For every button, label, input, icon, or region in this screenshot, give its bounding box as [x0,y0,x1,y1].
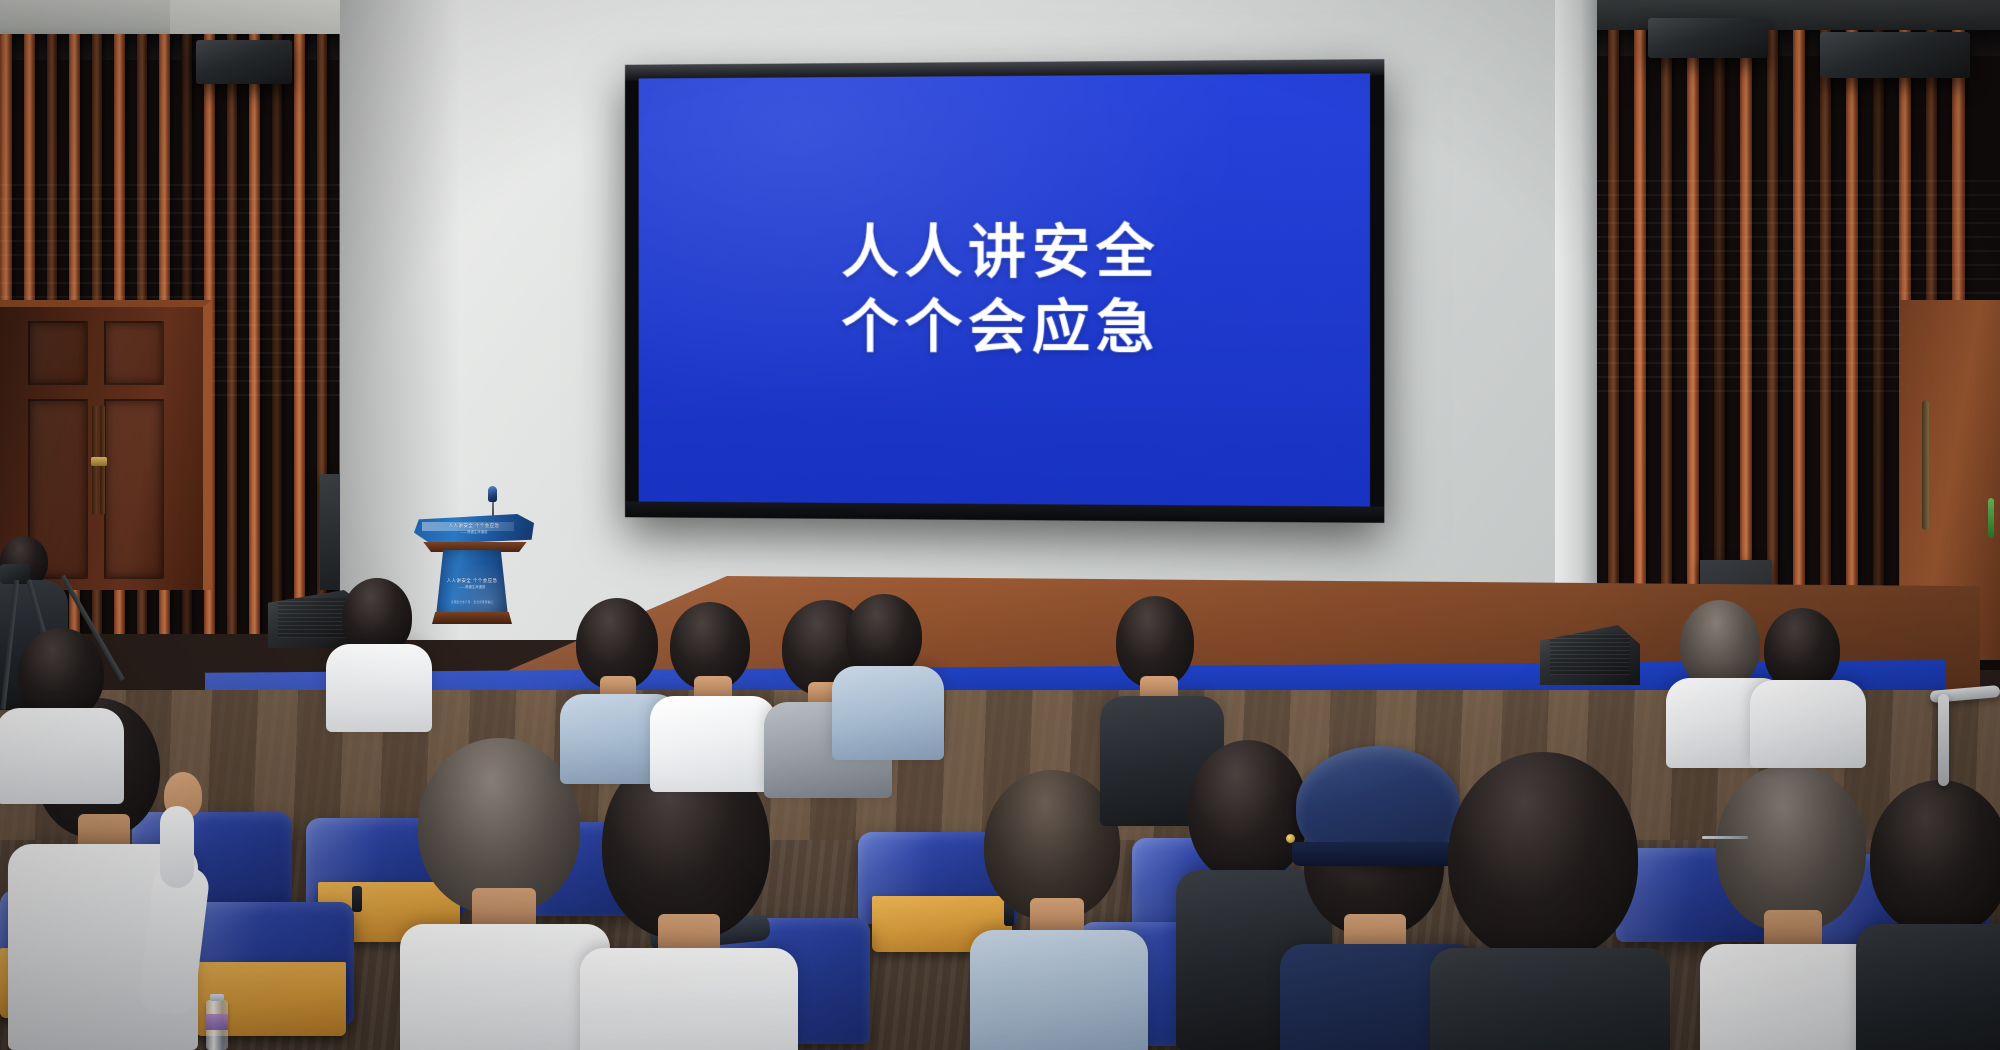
wall-slat [1608,30,1619,670]
door-panel [104,399,164,579]
stair-railing-post [1938,694,1949,786]
exit-led-indicator [1988,498,1994,538]
podium-front-panel: 人人讲安全 个个会应急 ——畅通生命通道 全国安全生产月 · 安全宣传咨询日 [436,550,508,616]
wall-slat [1634,30,1646,670]
person-torso [970,930,1148,1050]
person-head [1188,740,1308,882]
person-torso [326,644,432,732]
person-head [1716,764,1866,932]
ceiling-speaker [1820,32,1970,78]
wall-slat [227,34,237,634]
door-panel [104,321,164,385]
back-wall-right-return [1555,0,1597,640]
wall-slat [272,34,282,634]
ceiling-speaker [1648,18,1768,58]
person-head [18,628,104,720]
wall-slat [249,34,260,634]
ceiling-speaker [196,40,292,84]
person-torso [580,948,798,1050]
bottle-label [206,1014,228,1030]
person-torso [400,924,610,1050]
microphone-icon [488,486,497,502]
podium-body-title: 人人讲安全 个个会应急 [436,578,508,584]
podium-banner-subtitle: ——畅通生命通道 [414,529,534,534]
wall-slat [1793,30,1805,670]
wall-slat [1687,30,1699,670]
podium-base [432,612,512,624]
cap-brim [1292,842,1464,866]
person-head [1116,596,1194,688]
person-torso [0,708,124,804]
door-lock-plate[interactable] [91,457,107,466]
wall-slat [1873,30,1884,670]
podium-body-subtitle: ——畅通生命通道 [436,584,508,589]
seat-tray-hinge [352,886,362,912]
wall-slat [294,34,305,634]
slogan-line-1: 人人讲安全 [841,214,1160,290]
person-torso [1856,924,2000,1050]
podium: 人人讲安全 个个会应急 ——畅通生命通道 人人讲安全 个个会应急 ——畅通生命通… [414,488,534,628]
screen-content: 人人讲安全 个个会应急 [639,73,1370,506]
water-bottle [206,1000,228,1050]
slogan-line-2: 个个会应急 [841,290,1160,366]
person-head [1680,600,1760,690]
person-torso [650,696,776,792]
person-torso [832,666,944,760]
podium-body-footer: 全国安全生产月 · 安全宣传咨询日 [436,600,508,604]
person-head [1870,780,2000,936]
cap-badge-icon [1286,834,1295,843]
speaker-grille [1550,633,1630,675]
door-push-bar[interactable] [1922,400,1929,530]
wall-slat [1820,30,1831,670]
bottle-cap [210,994,224,1001]
projection-screen: 人人讲安全 个个会应急 [625,59,1384,523]
wall-slat [1661,30,1672,670]
wall-slat [1846,30,1858,670]
eyeglasses-icon [1702,836,1748,839]
person-torso [1430,948,1670,1050]
person-forearm [160,806,194,888]
door-panel [28,321,88,385]
person-torso [1750,680,1866,768]
person-head [1448,752,1638,962]
auditorium-photo: JBL 人人讲安全 个个会应急 [0,0,2000,1050]
